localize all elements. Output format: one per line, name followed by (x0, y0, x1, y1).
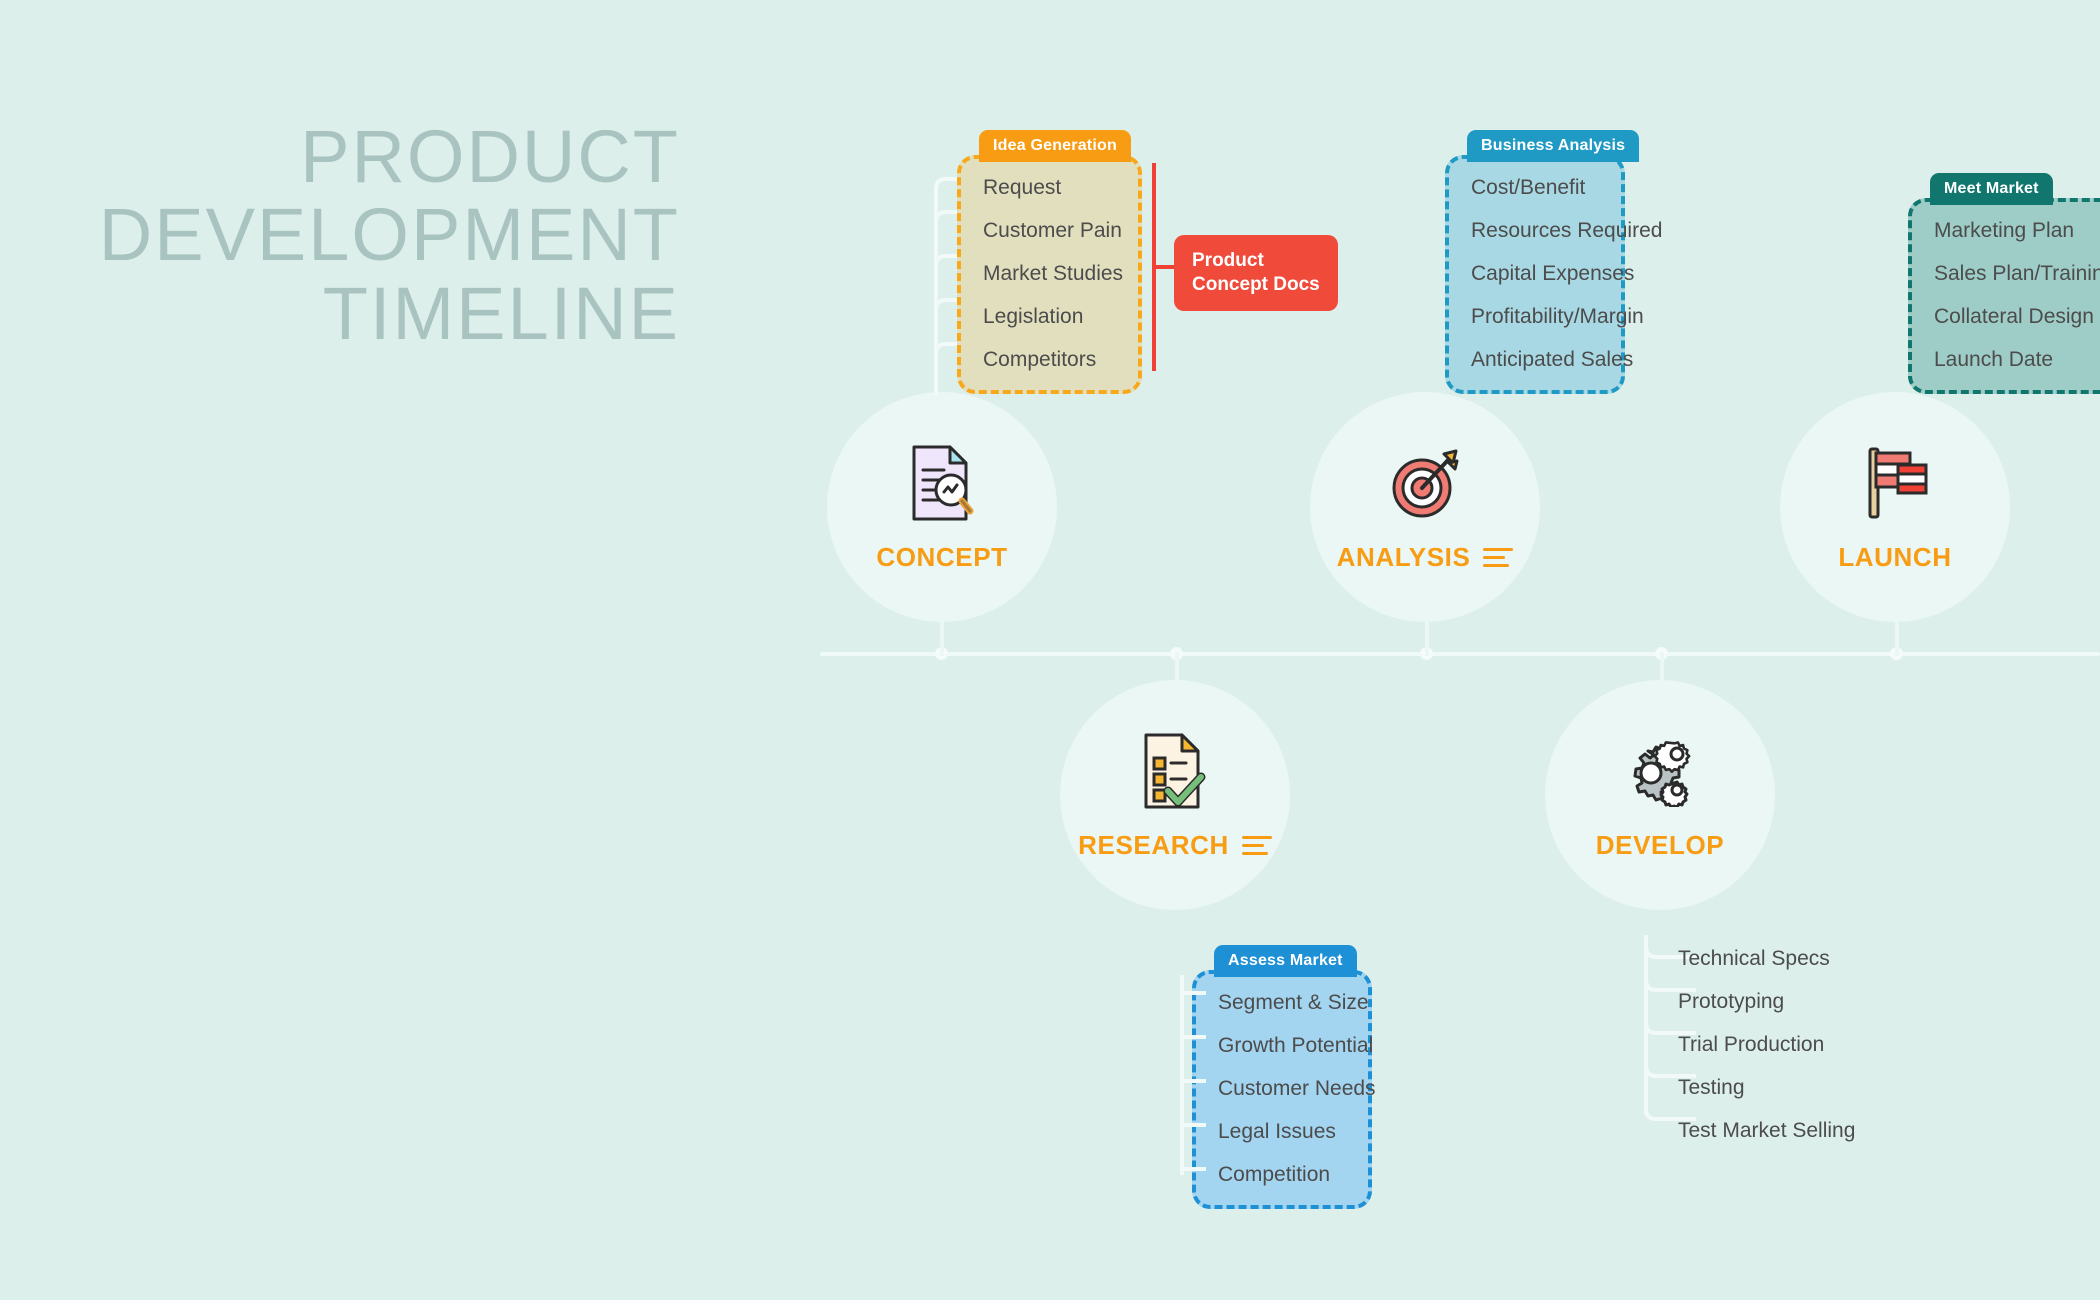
node-research[interactable]: RESEARCH (1060, 680, 1290, 910)
node-label-concept: CONCEPT (876, 542, 1007, 573)
card-item: Market Studies (983, 263, 1116, 284)
card-idea-generation[interactable]: Idea Generation Request Customer Pain Ma… (957, 155, 1142, 394)
card-item: Customer Pain (983, 220, 1116, 241)
card-item: Legislation (983, 306, 1116, 327)
node-analysis[interactable]: ANALYSIS (1310, 392, 1540, 622)
callout-product-concept-docs[interactable]: Product Concept Docs (1174, 235, 1338, 311)
card-item: Legal Issues (1218, 1121, 1346, 1142)
node-label-row-analysis: ANALYSIS (1337, 542, 1514, 573)
node-launch[interactable]: LAUNCH (1780, 392, 2010, 622)
node-label-row-concept: CONCEPT (876, 542, 1007, 573)
card-item: Request (983, 177, 1116, 198)
red-bracket-stub (1152, 265, 1174, 269)
card-item: Customer Needs (1218, 1078, 1346, 1099)
card-business-analysis[interactable]: Business Analysis Cost/Benefit Resources… (1445, 155, 1625, 394)
title-line-2: DEVELOPMENT (0, 196, 680, 274)
title-line-3: TIMELINE (0, 275, 680, 353)
checklist-icon (1141, 730, 1209, 812)
document-magnifier-icon (909, 442, 975, 524)
stem-concept (940, 622, 944, 656)
node-label-row-launch: LAUNCH (1838, 542, 1951, 573)
node-label-row-develop: DEVELOP (1596, 830, 1724, 861)
card-item: Capital Expenses (1471, 263, 1599, 284)
card-item: Anticipated Sales (1471, 349, 1599, 370)
list-item: Technical Specs (1678, 948, 1855, 969)
list-lines-icon-research (1242, 836, 1272, 855)
develop-deliverables-list: Technical Specs Prototyping Trial Produc… (1678, 948, 1855, 1141)
card-item: Competition (1218, 1164, 1346, 1185)
flag-icon (1858, 442, 1932, 524)
callout-line-1: Product (1192, 249, 1320, 273)
card-item: Sales Plan/Training (1934, 263, 2092, 284)
gears-icon (1620, 730, 1700, 812)
target-arrow-icon (1386, 442, 1464, 524)
node-label-analysis: ANALYSIS (1337, 542, 1471, 573)
card-item: Segment & Size (1218, 992, 1346, 1013)
list-item: Prototyping (1678, 991, 1855, 1012)
node-develop[interactable]: DEVELOP (1545, 680, 1775, 910)
title-line-1: PRODUCT (0, 118, 680, 196)
stem-analysis (1425, 622, 1429, 656)
card-tab-idea-generation: Idea Generation (979, 130, 1131, 162)
card-tab-business-analysis: Business Analysis (1467, 130, 1639, 162)
node-label-row-research: RESEARCH (1078, 830, 1272, 861)
card-item: Collateral Design (1934, 306, 2092, 327)
list-item: Testing (1678, 1077, 1855, 1098)
card-item: Growth Potential (1218, 1035, 1346, 1056)
list-lines-icon-analysis (1483, 548, 1513, 567)
card-assess-market[interactable]: Assess Market Segment & Size Growth Pote… (1192, 970, 1372, 1209)
node-label-research: RESEARCH (1078, 830, 1229, 861)
timeline-axis (820, 652, 2100, 656)
timeline-infographic: PRODUCT DEVELOPMENT TIMELINE (0, 0, 2100, 1300)
card-item: Cost/Benefit (1471, 177, 1599, 198)
node-concept[interactable]: CONCEPT (827, 392, 1057, 622)
card-item: Launch Date (1934, 349, 2092, 370)
callout-line-2: Concept Docs (1192, 273, 1320, 297)
card-meet-market[interactable]: Meet Market Marketing Plan Sales Plan/Tr… (1908, 198, 2100, 394)
node-label-develop: DEVELOP (1596, 830, 1724, 861)
card-item: Profitability/Margin (1471, 306, 1599, 327)
list-item: Trial Production (1678, 1034, 1855, 1055)
list-item: Test Market Selling (1678, 1120, 1855, 1141)
card-tab-meet-market: Meet Market (1930, 173, 2053, 205)
card-item: Competitors (983, 349, 1116, 370)
card-item: Marketing Plan (1934, 220, 2092, 241)
page-title: PRODUCT DEVELOPMENT TIMELINE (0, 118, 680, 353)
card-tab-assess-market: Assess Market (1214, 945, 1357, 977)
stem-launch (1895, 622, 1899, 656)
card-item: Resources Required (1471, 220, 1599, 241)
node-label-launch: LAUNCH (1838, 542, 1951, 573)
